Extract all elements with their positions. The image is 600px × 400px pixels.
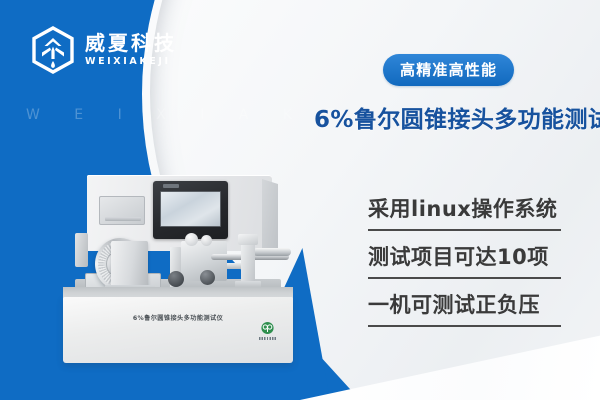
product-image: 6%鲁尔圆锥接头多功能测试仪 xyxy=(63,175,318,370)
wheel-mount-block xyxy=(111,241,148,289)
machine-back-panel-side xyxy=(262,179,278,251)
fixture-knob-small-2 xyxy=(201,235,212,246)
certification-logo-icon xyxy=(257,321,277,343)
promo-banner: 威夏科技 WEIXIAKEJI W E I X I A K E 高精准高性能 6… xyxy=(0,0,600,400)
highlight-badge-label: 高精准高性能 xyxy=(400,61,497,79)
adjust-knob-1 xyxy=(168,271,184,287)
test-rod-tip xyxy=(253,248,291,256)
fixture-knob-small-1 xyxy=(185,233,198,246)
touchscreen-panel-icon xyxy=(153,181,228,239)
brand-name-en: WEIXIAKEJI xyxy=(85,57,177,67)
cert-mark xyxy=(260,321,275,336)
machine-base: 6%鲁尔圆锥接头多功能测试仪 xyxy=(63,297,293,363)
cert-mark-text xyxy=(259,337,276,340)
machine-side-plate xyxy=(99,196,145,225)
feature-label: 采用linux操作系统 xyxy=(368,196,566,222)
feature-label: 测试项目可达10项 xyxy=(368,244,566,270)
hexagon-shield-icon xyxy=(30,26,76,74)
product-title: 6%鲁尔圆锥接头多功能测试仪 xyxy=(314,100,600,134)
feature-divider xyxy=(368,277,561,279)
panel-indicator xyxy=(163,184,179,188)
list-item: 测试项目可达10项 xyxy=(368,244,566,279)
brand-name-cn: 威夏科技 xyxy=(85,33,177,53)
highlight-badge: 高精准高性能 xyxy=(383,54,514,86)
feature-divider xyxy=(368,229,561,231)
feature-list: 采用linux操作系统 测试项目可达10项 一机可测试正负压 xyxy=(368,196,566,340)
list-item: 采用linux操作系统 xyxy=(368,196,566,231)
wheel-arm xyxy=(75,233,88,267)
panel-screen xyxy=(160,191,221,227)
brand-logo-text: 威夏科技 WEIXIAKEJI xyxy=(85,33,177,67)
right-bracket-top xyxy=(238,234,258,245)
list-item: 一机可测试正负压 xyxy=(368,292,566,327)
adjust-knob-2 xyxy=(200,270,215,285)
feature-divider xyxy=(368,325,561,327)
feature-label: 一机可测试正负压 xyxy=(368,292,566,318)
brand-logo: 威夏科技 WEIXIAKEJI xyxy=(30,26,177,74)
brand-watermark: W E I X I A K E xyxy=(26,107,350,123)
